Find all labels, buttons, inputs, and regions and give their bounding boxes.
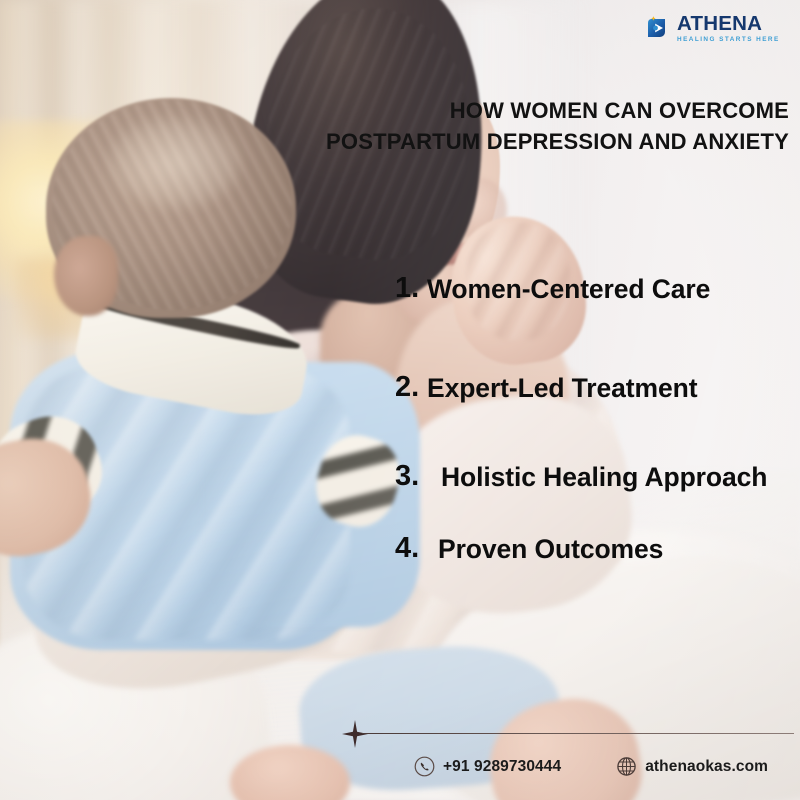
website-url: athenaokas.com bbox=[645, 758, 768, 776]
athena-diamond-arrow-logo-icon bbox=[644, 14, 672, 42]
brand-tagline: HEALING STARTS HERE bbox=[677, 37, 780, 43]
content-overlay: ATHENA HEALING STARTS HERE HOW WOMEN CAN… bbox=[0, 0, 800, 800]
list-item: 2. Expert-Led Treatment bbox=[395, 371, 800, 407]
divider-line bbox=[362, 733, 794, 734]
list-item-label: Holistic Healing Approach bbox=[427, 460, 767, 496]
list-item-label: Women-Centered Care bbox=[427, 272, 710, 308]
list-item: 3. Holistic Healing Approach bbox=[395, 460, 800, 496]
list-item: 4. Proven Outcomes bbox=[395, 532, 800, 568]
contact-bar: +91 9289730444 athenaokas.com bbox=[414, 756, 768, 777]
brand-name: ATHENA bbox=[677, 14, 780, 35]
benefits-list: 1. Women-Centered Care 2. Expert-Led Tre… bbox=[395, 272, 800, 573]
list-item-number: 3. bbox=[395, 460, 427, 492]
list-item: 1. Women-Centered Care bbox=[395, 272, 800, 308]
list-item-label: Expert-Led Treatment bbox=[427, 371, 697, 407]
phone-number: +91 9289730444 bbox=[443, 758, 561, 776]
footer-divider bbox=[342, 720, 794, 748]
list-item-label: Proven Outcomes bbox=[427, 532, 663, 568]
phone-circle-icon bbox=[414, 756, 435, 777]
contact-website[interactable]: athenaokas.com bbox=[616, 756, 768, 777]
social-post-card: ATHENA HEALING STARTS HERE HOW WOMEN CAN… bbox=[0, 0, 800, 800]
globe-icon bbox=[616, 756, 637, 777]
page-title: HOW WOMEN CAN OVERCOME POSTPARTUM DEPRES… bbox=[319, 95, 789, 157]
list-item-number: 2. bbox=[395, 371, 427, 403]
brand-logo[interactable]: ATHENA HEALING STARTS HERE bbox=[644, 14, 780, 43]
list-item-number: 4. bbox=[395, 532, 427, 564]
list-item-number: 1. bbox=[395, 272, 427, 304]
contact-phone[interactable]: +91 9289730444 bbox=[414, 756, 561, 777]
